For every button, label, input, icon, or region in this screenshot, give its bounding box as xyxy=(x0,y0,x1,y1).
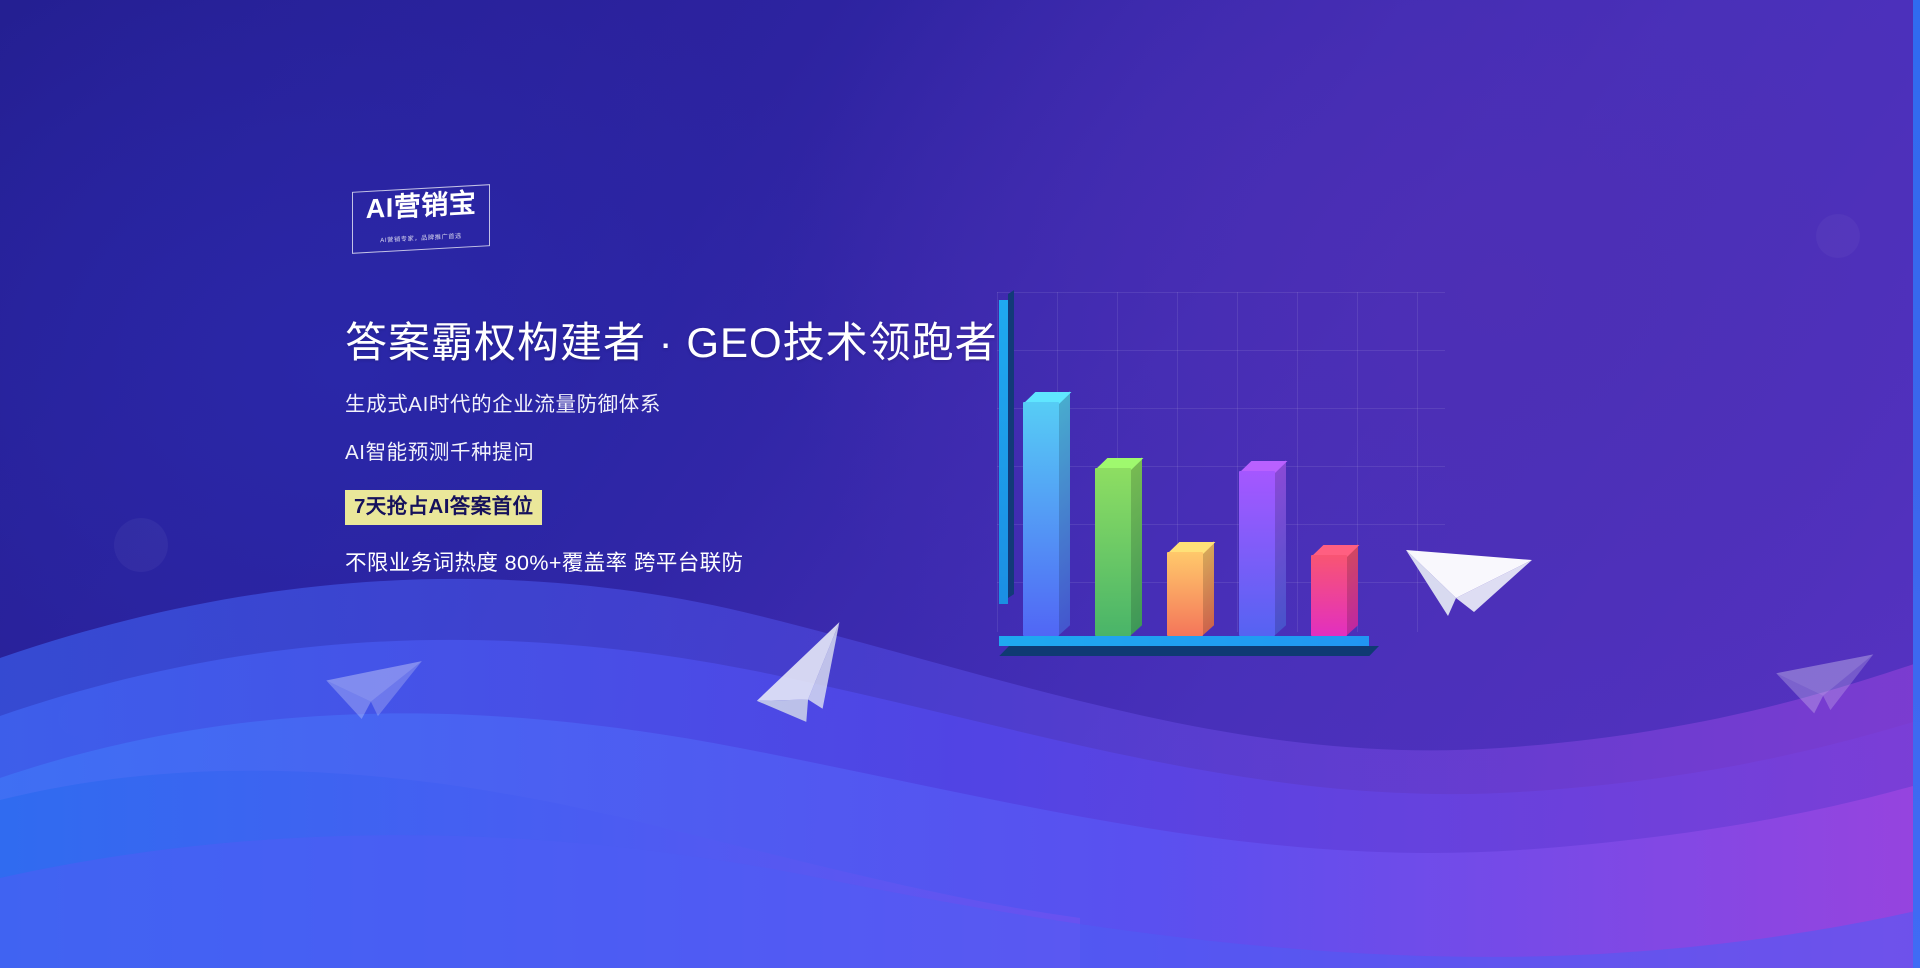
logo[interactable]: AI营销宝 AI营销专家，品牌推广首选 xyxy=(352,188,490,250)
chart-bar xyxy=(1167,552,1203,636)
paper-plane-icon-right xyxy=(1770,629,1887,729)
decor-circle-right xyxy=(1816,214,1860,258)
chart-bar-face xyxy=(1311,555,1347,636)
chart-bar-face xyxy=(1239,471,1275,636)
chart-bar-side xyxy=(1130,457,1142,636)
chart-bar xyxy=(1095,468,1131,636)
chart-baseline-side xyxy=(999,646,1379,656)
chart-bar-side xyxy=(1202,541,1214,636)
chart-bar xyxy=(1023,402,1059,636)
chart-y-axis xyxy=(999,294,1011,604)
chart-bar xyxy=(1311,555,1347,636)
chart-baseline xyxy=(999,636,1369,646)
decor-circle-left-small xyxy=(58,700,94,736)
paper-plane-icon-left xyxy=(319,636,435,735)
chart-bar-side xyxy=(1058,391,1070,636)
chart-bar-side xyxy=(1346,544,1358,636)
decor-circle-left xyxy=(114,518,168,572)
chart-bar-face xyxy=(1167,552,1203,636)
hero-highlight-badge: 7天抢占AI答案首位 xyxy=(345,490,542,526)
chart-bar-side xyxy=(1274,460,1286,636)
hero-banner: AI营销宝 AI营销专家，品牌推广首选 答案霸权构建者 · GEO技术领跑者 生… xyxy=(0,0,1920,968)
chart-bar-face xyxy=(1023,402,1059,636)
bar-chart-illustration xyxy=(975,292,1445,662)
chart-bar-face xyxy=(1095,468,1131,636)
paper-plane-icon-secondary xyxy=(734,609,883,747)
chart-bar xyxy=(1239,471,1275,636)
right-edge-strip xyxy=(1913,0,1920,968)
